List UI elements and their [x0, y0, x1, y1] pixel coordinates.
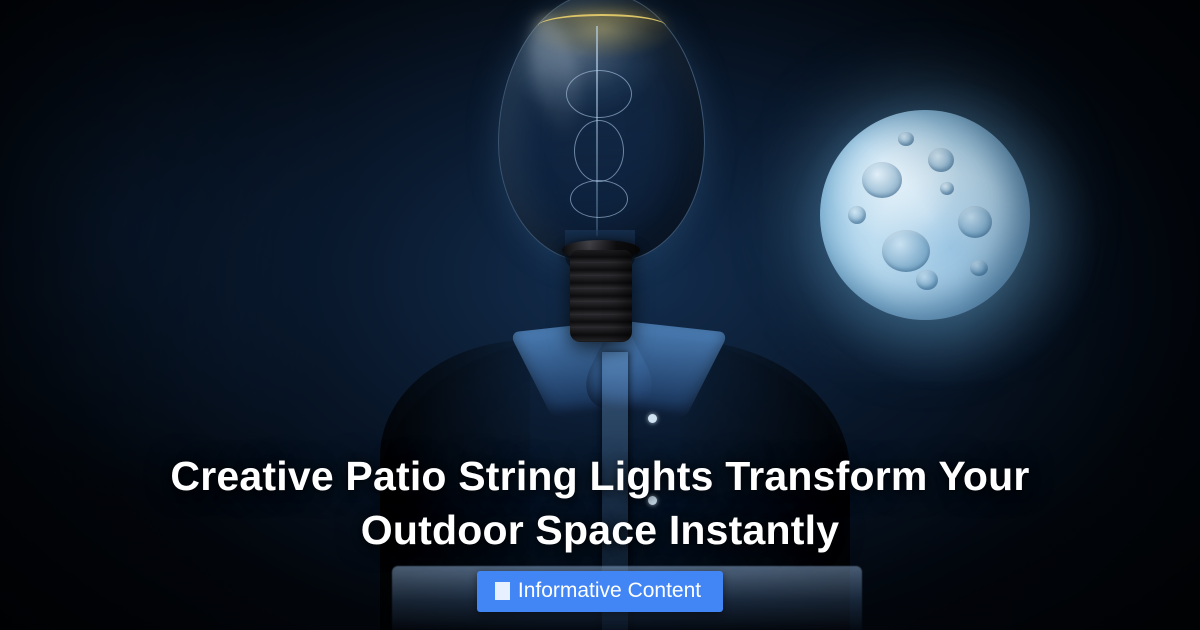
document-icon [495, 582, 510, 600]
text-overlay: Creative Patio String Lights Transform Y… [0, 450, 1200, 630]
status-badge-label: Informative Content [518, 579, 701, 603]
status-badge[interactable]: Informative Content [477, 571, 723, 612]
badge-row: Informative Content [0, 571, 1200, 612]
page-title: Creative Patio String Lights Transform Y… [100, 450, 1100, 557]
image-card: Creative Patio String Lights Transform Y… [0, 0, 1200, 630]
